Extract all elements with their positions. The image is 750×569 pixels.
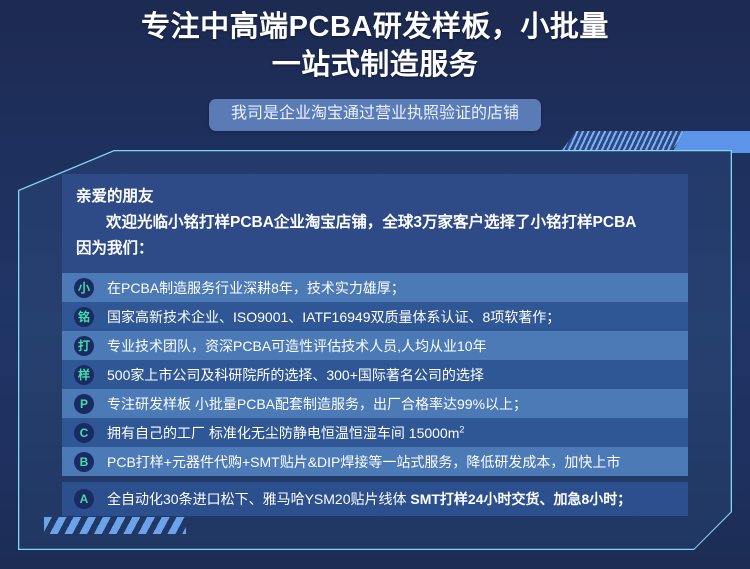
list-item-label: 专注研发样板 小批量PCBA配套制造服务，出厂合格率达99%以上； xyxy=(107,394,688,414)
verification-badge-pill: 我司是企业淘宝通过营业执照验证的店铺 xyxy=(209,99,541,131)
headline-line-2: 一站式制造服务 xyxy=(0,46,750,84)
badge-icon: A xyxy=(74,489,94,509)
badge-icon: 铭 xyxy=(74,307,94,327)
solid-bar-accent xyxy=(672,131,750,153)
last-row-normal-text: 全自动化30条进口松下、雅马哈YSM20贴片线体 xyxy=(107,491,410,507)
list-item: 打专业技术团队，资深PCBA可造性评估技术人员,人均从业10年 xyxy=(62,331,688,360)
list-item: BPCB打样+元器件代购+SMT贴片&DIP焊接等一站式服务，降低研发成本，加快… xyxy=(62,447,688,476)
feature-list: 小在PCBA制造服务行业深耕8年，技术实力雄厚；铭国家高新技术企业、ISO900… xyxy=(62,273,688,476)
list-item: C拥有自己的工厂 标准化无尘防静电恒温恒湿车间 15000m2 xyxy=(62,418,688,447)
list-item-label: 国家高新技术企业、ISO9001、IATF16949双质量体系认证、8项软著作； xyxy=(107,307,688,327)
greeting-block: 亲爱的朋友 欢迎光临小铭打样PCBA企业淘宝店铺，全球3万家客户选择了小铭打样P… xyxy=(62,174,688,273)
list-item-label: 拥有自己的工厂 标准化无尘防静电恒温恒湿车间 15000m2 xyxy=(107,423,688,443)
list-item-label: 全自动化30条进口松下、雅马哈YSM20贴片线体 SMT打样24小时交货、加急8… xyxy=(107,489,688,509)
list-item-label: 500家上市公司及科研院所的选择、300+国际著名公司的选择 xyxy=(107,365,688,385)
badge-icon: P xyxy=(74,394,94,414)
list-item: 小在PCBA制造服务行业深耕8年，技术实力雄厚； xyxy=(62,273,688,302)
greeting-line-1: 亲爱的朋友 xyxy=(76,184,674,210)
list-item-label: 专业技术团队，资深PCBA可造性评估技术人员,人均从业10年 xyxy=(107,336,688,356)
badge-icon: 打 xyxy=(74,336,94,356)
hatch-stripes-icon xyxy=(560,131,686,153)
badge-icon: 样 xyxy=(74,365,94,385)
badge-icon: 小 xyxy=(74,278,94,298)
intro-card: 亲爱的朋友 欢迎光临小铭打样PCBA企业淘宝店铺，全球3万家客户选择了小铭打样P… xyxy=(62,174,688,516)
headline-line-1: 专注中高端PCBA研发样板，小批量 xyxy=(141,11,609,43)
list-item-highlight: A 全自动化30条进口松下、雅马哈YSM20贴片线体 SMT打样24小时交货、加… xyxy=(62,482,688,516)
list-item: P专注研发样板 小批量PCBA配套制造服务，出厂合格率达99%以上； xyxy=(62,389,688,418)
greeting-line-2: 欢迎光临小铭打样PCBA企业淘宝店铺，全球3万家客户选择了小铭打样PCBA xyxy=(76,210,674,236)
top-right-stripe-decoration xyxy=(560,131,750,153)
list-item-label: PCB打样+元器件代购+SMT贴片&DIP焊接等一站式服务，降低研发成本，加快上… xyxy=(107,452,688,472)
page-headline: 专注中高端PCBA研发样板，小批量 一站式制造服务 xyxy=(0,8,750,84)
greeting-line-3: 因为我们： xyxy=(76,236,674,262)
list-item: 样500家上市公司及科研院所的选择、300+国际著名公司的选择 xyxy=(62,360,688,389)
badge-icon: C xyxy=(74,423,94,443)
last-row-bold-text: SMT打样24小时交货、加急8小时； xyxy=(410,491,631,507)
badge-icon: B xyxy=(74,452,94,472)
list-item-label: 在PCBA制造服务行业深耕8年，技术实力雄厚； xyxy=(107,278,688,298)
bottom-left-stripe-decoration xyxy=(44,517,186,534)
list-item: 铭国家高新技术企业、ISO9001、IATF16949双质量体系认证、8项软著作… xyxy=(62,302,688,331)
